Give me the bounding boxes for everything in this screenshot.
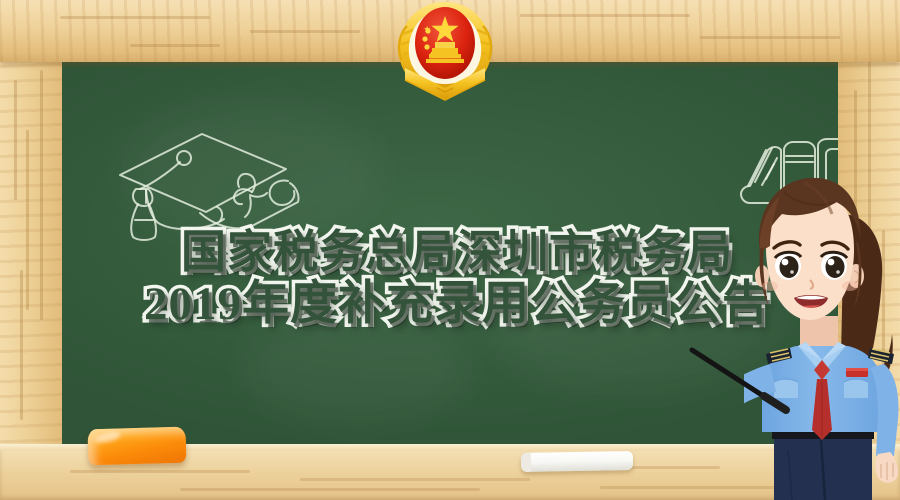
wood-frame-left (0, 50, 62, 450)
chalk-stick-icon (521, 451, 633, 472)
chalkboard: 国家税务总局深圳市税务局 2019年度补充录用公务员公告 (62, 62, 838, 446)
blackboard-eraser-icon (88, 427, 187, 466)
left-chest-pocket (774, 379, 798, 398)
recruitment-banner: 国家税务总局深圳市税务局 2019年度补充录用公务员公告 (0, 0, 900, 500)
graduation-cap-chalk-icon (102, 117, 312, 242)
right-chest-pocket (844, 379, 868, 398)
tax-bureau-emblem-icon (385, 0, 505, 103)
female-tax-officer-cartoon (744, 168, 900, 500)
